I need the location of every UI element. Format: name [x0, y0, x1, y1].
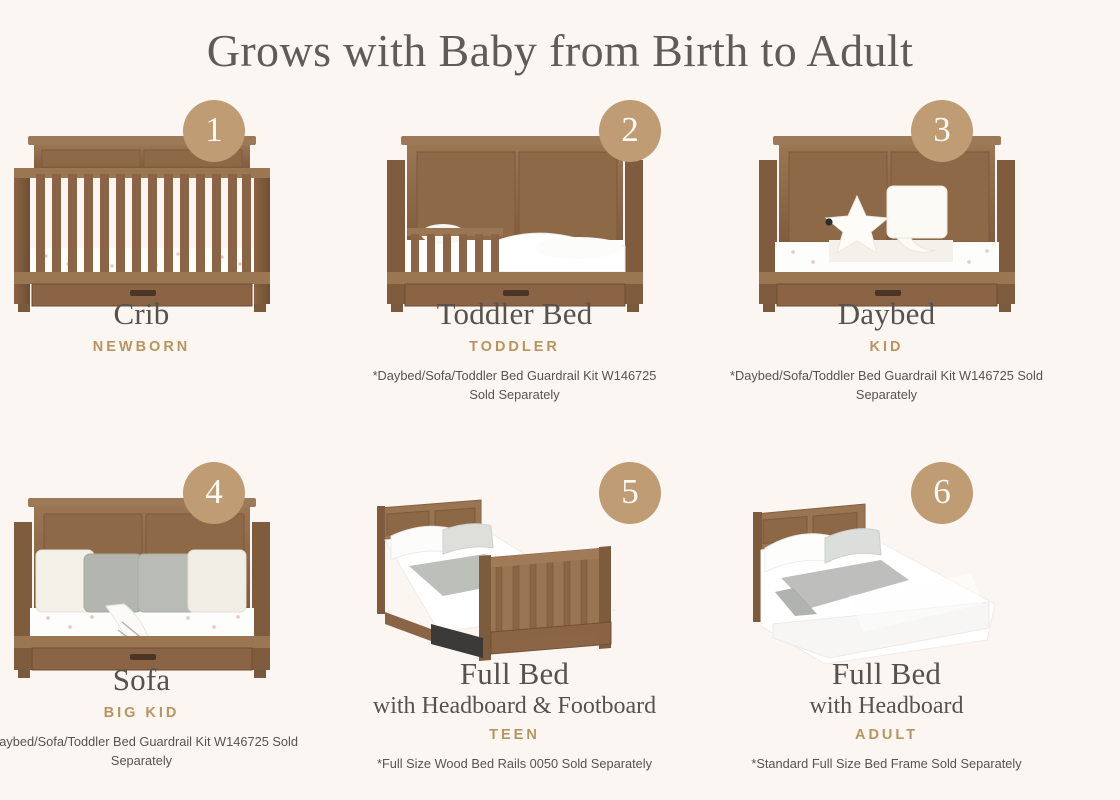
stage-subtitle: with Headboard: [700, 693, 1073, 720]
daybed-illustration: [700, 96, 1073, 311]
stage-badge-5: 5: [599, 462, 661, 524]
stage-note: *Daybed/Sofa/Toddler Bed Guardrail Kit W…: [328, 367, 701, 404]
daybed-svg: [737, 130, 1037, 315]
full-bed-hb-illustration: [700, 458, 1073, 673]
crib-svg: [0, 130, 292, 315]
stage-badge-6: 6: [911, 462, 973, 524]
crib-illustration: [0, 96, 328, 311]
stage-name: Toddler Bed: [328, 296, 701, 332]
stage-row-bottom: 4 Sofa BIG KID *Daybed/Sofa/Toddler Bed …: [0, 458, 1120, 788]
crib-caption: Crib NEWBORN: [0, 296, 328, 355]
stage-card-daybed: 3 Daybed KID *Daybed/Sofa/Toddler Bed Gu…: [700, 96, 1073, 426]
stage-note: *Daybed/Sofa/Toddler Bed Guardrail Kit W…: [0, 733, 328, 770]
daybed-caption: Daybed KID *Daybed/Sofa/Toddler Bed Guar…: [700, 296, 1073, 404]
stage-card-toddler-bed: 2 Toddler Bed TODDLER *Daybed/Sofa/Toddl…: [328, 96, 701, 426]
stage-age: BIG KID: [0, 705, 328, 721]
stage-card-crib: 1 Crib NEWBORN: [0, 96, 328, 426]
stage-subtitle: with Headboard & Footboard: [328, 693, 701, 720]
stage-age: TEEN: [328, 727, 701, 743]
stage-age: TODDLER: [328, 339, 701, 355]
stage-card-full-bed-hb: 6 Full Bed with Headboard ADULT *Standar…: [700, 458, 1073, 788]
stage-badge-4: 4: [183, 462, 245, 524]
stage-row-top: 1 Crib NEWBORN: [0, 96, 1120, 426]
stage-name: Sofa: [0, 662, 328, 698]
sofa-illustration: [0, 458, 328, 673]
stage-card-full-bed-hb-fb: 5 Full Bed with Headboard & Footboard TE…: [328, 458, 701, 788]
page-title: Grows with Baby from Birth to Adult: [0, 24, 1120, 77]
stage-age: KID: [700, 339, 1073, 355]
stage-badge-2: 2: [599, 100, 661, 162]
infographic-page: Grows with Baby from Birth to Adult: [0, 0, 1120, 800]
stage-name: Full Bed: [328, 656, 701, 692]
toddler-bed-caption: Toddler Bed TODDLER *Daybed/Sofa/Toddler…: [328, 296, 701, 404]
sofa-svg: [0, 492, 292, 682]
stage-note: *Daybed/Sofa/Toddler Bed Guardrail Kit W…: [700, 367, 1073, 404]
stage-note: *Standard Full Size Bed Frame Sold Separ…: [700, 755, 1073, 774]
full-bed-hb-caption: Full Bed with Headboard ADULT *Standard …: [700, 656, 1073, 774]
full-bed-hb-fb-caption: Full Bed with Headboard & Footboard TEEN…: [328, 656, 701, 774]
stage-badge-1: 1: [183, 100, 245, 162]
stages-grid: 1 Crib NEWBORN: [0, 96, 1120, 788]
stage-name: Daybed: [700, 296, 1073, 332]
stage-age: NEWBORN: [0, 339, 328, 355]
stage-age: ADULT: [700, 727, 1073, 743]
sofa-caption: Sofa BIG KID *Daybed/Sofa/Toddler Bed Gu…: [0, 662, 328, 770]
stage-card-sofa: 4 Sofa BIG KID *Daybed/Sofa/Toddler Bed …: [0, 458, 328, 788]
stage-name: Full Bed: [700, 656, 1073, 692]
stage-name: Crib: [0, 296, 328, 332]
stage-badge-3: 3: [911, 100, 973, 162]
full-bed-hb-svg: [737, 492, 1037, 682]
stage-note: *Full Size Wood Bed Rails 0050 Sold Sepa…: [328, 755, 701, 774]
